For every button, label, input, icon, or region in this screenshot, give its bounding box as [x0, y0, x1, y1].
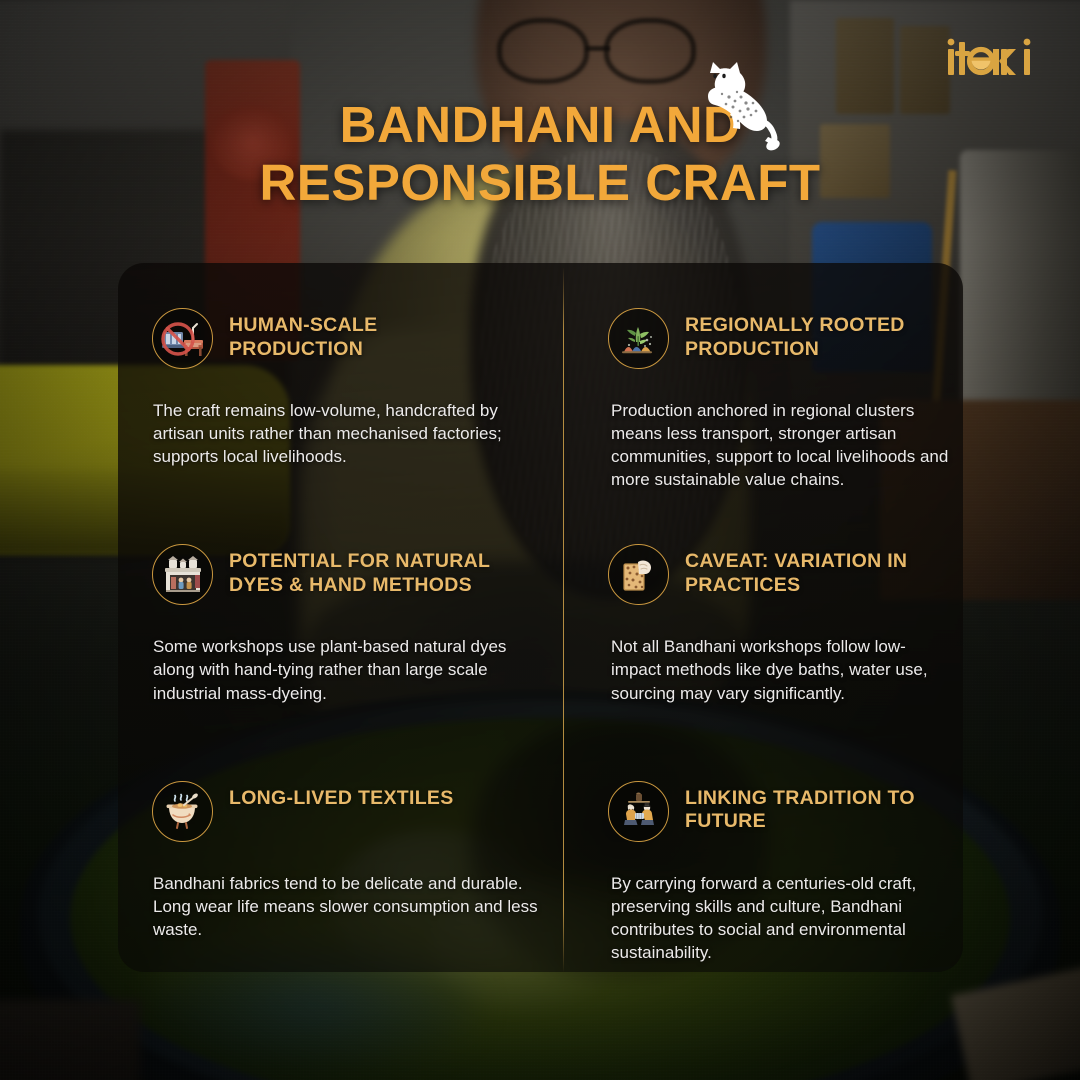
- card-natural-dyes-hand-methods: POTENTIAL FOR NATURAL DYES & HAND METHOD…: [118, 499, 563, 735]
- card-header: REGIONALLY ROOTED PRODUCTION: [608, 306, 953, 369]
- card-body: Some workshops use plant-based natural d…: [153, 635, 539, 704]
- cards-grid: HUMAN-SCALE PRODUCTION The craft remains…: [118, 263, 963, 972]
- card-title: LINKING TRADITION TO FUTURE: [685, 779, 935, 835]
- card-header: HUMAN-SCALE PRODUCTION: [152, 306, 539, 369]
- card-body: Bandhani fabrics tend to be delicate and…: [153, 872, 539, 941]
- infographic-canvas: BANDHANI AND RESPONSIBLE CRAFT: [0, 0, 1080, 1080]
- title-line-1: BANDHANI AND: [0, 96, 1080, 154]
- card-header: POTENTIAL FOR NATURAL DYES & HAND METHOD…: [152, 542, 539, 605]
- hand-holding-fabric-swatch-icon: [608, 544, 669, 605]
- card-header: LONG-LIVED TEXTILES: [152, 779, 539, 842]
- title-line-2: RESPONSIBLE CRAFT: [0, 154, 1080, 212]
- artisan-workshop-building-icon: [152, 544, 213, 605]
- card-human-scale-production: HUMAN-SCALE PRODUCTION The craft remains…: [118, 263, 563, 499]
- card-body: By carrying forward a centuries-old craf…: [611, 872, 953, 964]
- card-body: Production anchored in regional clusters…: [611, 399, 953, 491]
- card-linking-tradition-future: LINKING TRADITION TO FUTURE By carrying …: [563, 736, 963, 972]
- card-title: POTENTIAL FOR NATURAL DYES & HAND METHOD…: [229, 542, 494, 598]
- plant-seedling-soil-icon: [608, 308, 669, 369]
- card-title: LONG-LIVED TEXTILES: [229, 779, 454, 811]
- card-title: REGIONALLY ROOTED PRODUCTION: [685, 306, 935, 362]
- page-title: BANDHANI AND RESPONSIBLE CRAFT: [0, 96, 1080, 212]
- card-body: The craft remains low-volume, handcrafte…: [153, 399, 539, 468]
- card-title: HUMAN-SCALE PRODUCTION: [229, 306, 494, 362]
- card-header: LINKING TRADITION TO FUTURE: [608, 779, 953, 842]
- steaming-dye-pot-icon: [152, 781, 213, 842]
- card-header: CAVEAT: VARIATION IN PRACTICES: [608, 542, 953, 605]
- card-title: CAVEAT: VARIATION IN PRACTICES: [685, 542, 935, 598]
- card-body: Not all Bandhani workshops follow low-im…: [611, 635, 953, 704]
- no-factory-machine-icon: [152, 308, 213, 369]
- two-artisans-weaving-icon: [608, 781, 669, 842]
- card-regionally-rooted-production: REGIONALLY ROOTED PRODUCTION Production …: [563, 263, 963, 499]
- brand-logo[interactable]: [946, 38, 1044, 85]
- card-caveat-variation-practices: CAVEAT: VARIATION IN PRACTICES Not all B…: [563, 499, 963, 735]
- card-long-lived-textiles: LONG-LIVED TEXTILES Bandhani fabrics ten…: [118, 736, 563, 972]
